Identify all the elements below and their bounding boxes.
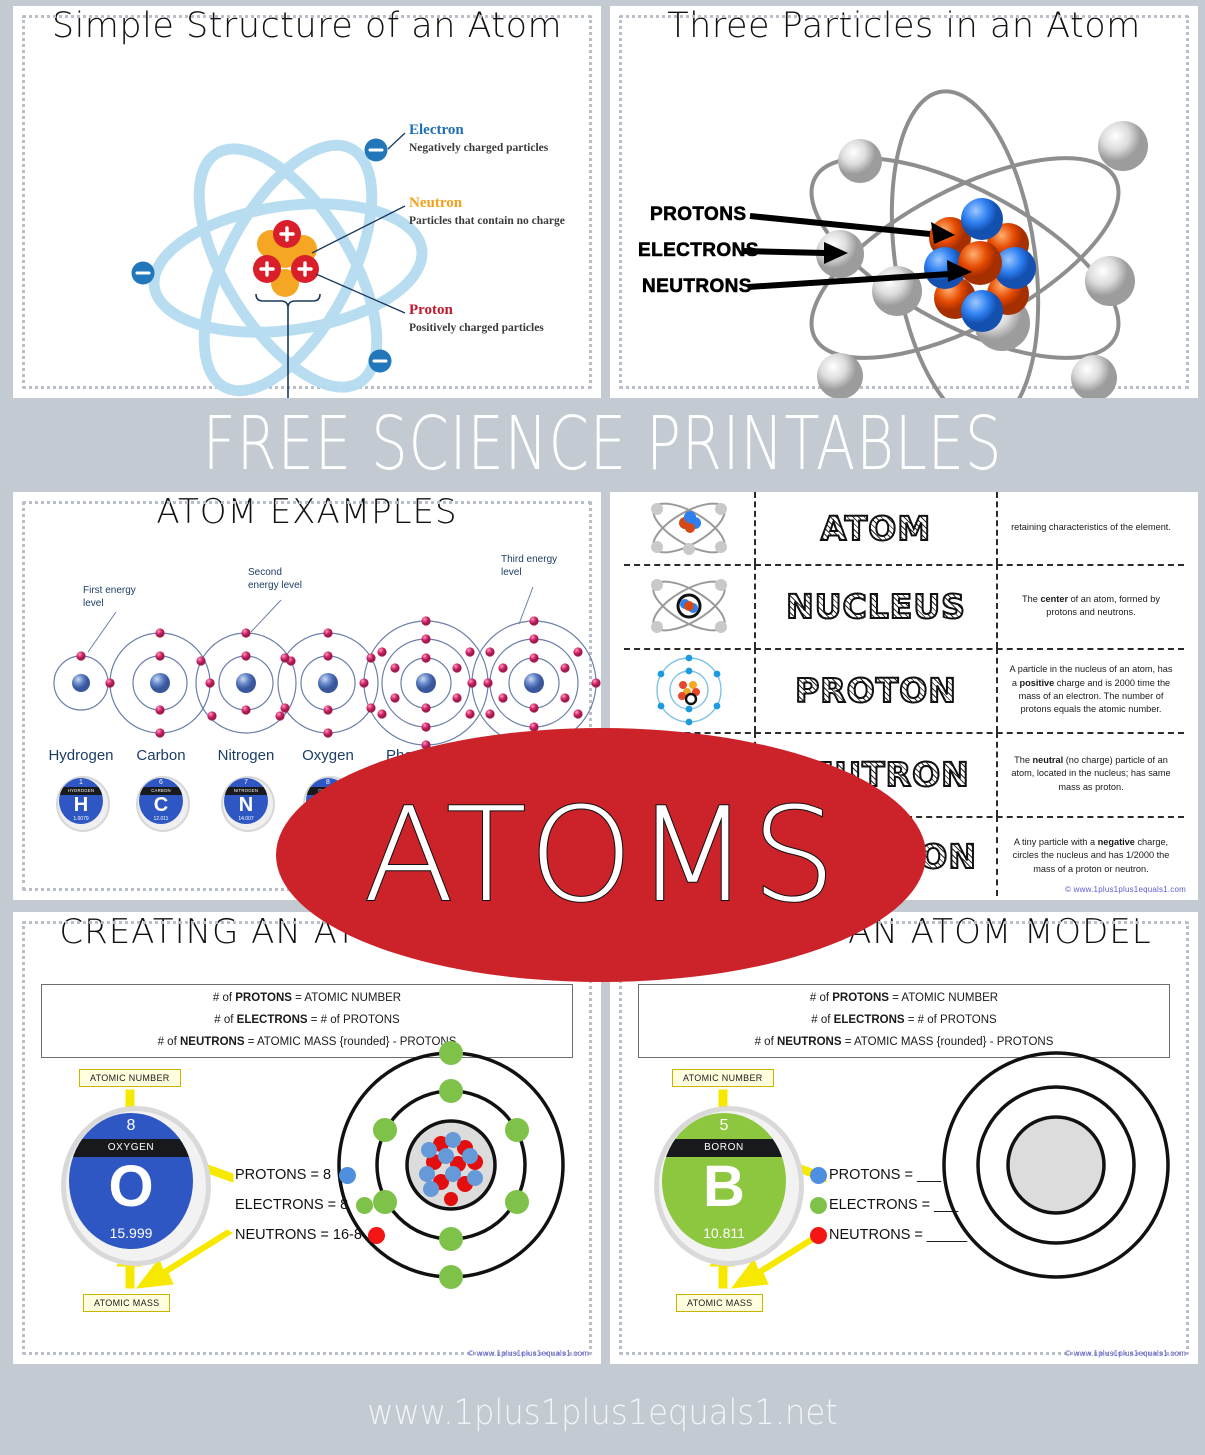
element-name-oxygen: Oxygen — [278, 747, 378, 764]
element-tile-oxygen-large: 8 OXYGEN O 15.999 — [55, 1102, 207, 1260]
bohr-model-boron-blank — [944, 1053, 1168, 1277]
vocab-def-cell: A tiny particle with a negative charge, … — [998, 816, 1184, 896]
electron-dot-icon — [810, 1197, 827, 1214]
vocab-def-cell: retaining characteristics of the element… — [998, 492, 1184, 564]
nucleus-cluster — [253, 220, 319, 297]
tile-atomic-mass: 10.811 — [662, 1225, 786, 1241]
vocab-word-cell: NUCLEUS — [756, 564, 998, 648]
legend-proton: Proton Positively charged particles — [409, 302, 589, 335]
particle-count-list: PROTONS = 8 ELECTRONS = 8 NEUTRONS = 16-… — [235, 1160, 385, 1250]
vocab-definition-neutron: The neutral (no charge) particle of an a… — [1006, 754, 1176, 794]
printable-card-three-particles: Three Particles in an Atom — [610, 6, 1198, 398]
tile-atomic-number: 5 — [662, 1117, 786, 1135]
count-protons-label: PROTONS = ___ — [829, 1167, 941, 1183]
tile-atomic-mass: 15.999 — [69, 1225, 193, 1241]
count-electrons-label: ELECTRONS = ___ — [829, 1197, 958, 1213]
legend-neutron: Neutron Particles that contain no charge — [409, 195, 589, 228]
count-electrons-label: ELECTRONS = 8 — [235, 1197, 348, 1213]
atoms-badge-label: ATOMS — [364, 790, 839, 920]
vocab-icon-nucleus — [624, 564, 756, 648]
3d-atom-illustration — [610, 6, 1198, 398]
vocab-definition-electron: A tiny particle with a negative charge, … — [1006, 836, 1176, 876]
count-electrons[interactable]: ELECTRONS = ___ — [810, 1190, 967, 1220]
element-tile-carbon: 6 CARBON C 12.011 — [132, 774, 190, 836]
tile-disc: 5 BORON B 10.811 — [662, 1113, 786, 1249]
count-neutrons-label: NEUTRONS = 16-8 — [235, 1227, 362, 1243]
atoms-badge: ATOMS — [276, 728, 926, 982]
legend-electron: Electron Negatively charged particles — [409, 122, 589, 155]
count-neutrons[interactable]: NEUTRONS = _____ — [810, 1220, 967, 1250]
electron-dot-icon — [356, 1197, 373, 1214]
count-protons[interactable]: PROTONS = ___ — [810, 1160, 967, 1190]
vocab-definition-atom: retaining characteristics of the element… — [1011, 521, 1171, 534]
count-protons: PROTONS = 8 — [235, 1160, 385, 1190]
printable-card-oxygen-model: CREATING AN ATOM MODEL # of PROTONS = AT… — [13, 912, 601, 1364]
callout-neutrons: NEUTRONS — [642, 276, 752, 298]
vocab-def-cell: The neutral (no charge) particle of an a… — [998, 732, 1184, 816]
poster-headline: FREE SCIENCE PRINTABLES — [133, 404, 1073, 484]
neutron-dot-icon — [368, 1227, 385, 1244]
vocab-row-proton: PROTON A particle in the nucleus of an a… — [624, 648, 1184, 734]
vocab-word-cell: PROTON — [756, 648, 998, 732]
printable-card-simple-structure: Simple Structure of an Atom — [13, 6, 601, 398]
copyright-line: © www.1plus1plus1equals1.com — [1065, 1349, 1186, 1358]
vocab-word-cell: ATOM — [756, 492, 998, 564]
callout-electrons: ELECTRONS — [638, 240, 759, 262]
vocab-word-atom: ATOM — [821, 509, 931, 548]
element-tile-hydrogen: 1 HYDROGEN H 1.0079 — [52, 774, 110, 836]
element-tile-nitrogen: 7 NITROGEN N 14.007 — [217, 774, 275, 836]
count-neutrons-label: NEUTRONS = _____ — [829, 1227, 967, 1243]
copyright-line: © www.1plus1plus1equals1.com — [468, 1349, 589, 1358]
tile-atomic-number: 8 — [69, 1117, 193, 1135]
poster-stage: Simple Structure of an Atom — [0, 0, 1205, 1455]
count-neutrons: NEUTRONS = 16-8 — [235, 1220, 385, 1250]
vocab-definition-nucleus: The center of an atom, formed by protons… — [1006, 593, 1176, 620]
tile-symbol: B — [662, 1157, 786, 1217]
site-url-footer: www.1plus1plus1equals1.net — [48, 1393, 1157, 1433]
vocab-def-cell: A particle in the nucleus of an atom, ha… — [998, 648, 1184, 732]
printable-card-boron-model: CREATING AN ATOM MODEL # of PROTONS = AT… — [610, 912, 1198, 1364]
proton-dot-icon — [339, 1167, 356, 1184]
vocab-icon-atom — [624, 492, 756, 564]
copyright-line: © www.1plus1plus1equals1.com — [1065, 885, 1186, 894]
vocab-word-nucleus: NUCLEUS — [786, 587, 966, 626]
element-tile-boron-large: 5 BORON B 10.811 — [648, 1102, 800, 1260]
proton-dot-icon — [810, 1167, 827, 1184]
tile-disc: 8 OXYGEN O 15.999 — [69, 1113, 193, 1249]
neutron-dot-icon — [810, 1227, 827, 1244]
callout-protons: PROTONS — [650, 204, 746, 226]
particle-count-list: PROTONS = ___ ELECTRONS = ___ NEUTRONS =… — [810, 1160, 967, 1250]
vocab-definition-proton: A particle in the nucleus of an atom, ha… — [1006, 663, 1176, 716]
vocab-row-nucleus: NUCLEUS The center of an atom, formed by… — [624, 564, 1184, 650]
vocab-def-cell: The center of an atom, formed by protons… — [998, 564, 1184, 648]
vocab-word-proton: PROTON — [795, 671, 957, 710]
vocab-icon-proton — [624, 648, 756, 732]
count-electrons: ELECTRONS = 8 — [235, 1190, 385, 1220]
tile-symbol: O — [69, 1157, 193, 1217]
count-protons-label: PROTONS = 8 — [235, 1167, 331, 1183]
vocab-row-atom: ATOM retaining characteristics of the el… — [624, 492, 1184, 566]
